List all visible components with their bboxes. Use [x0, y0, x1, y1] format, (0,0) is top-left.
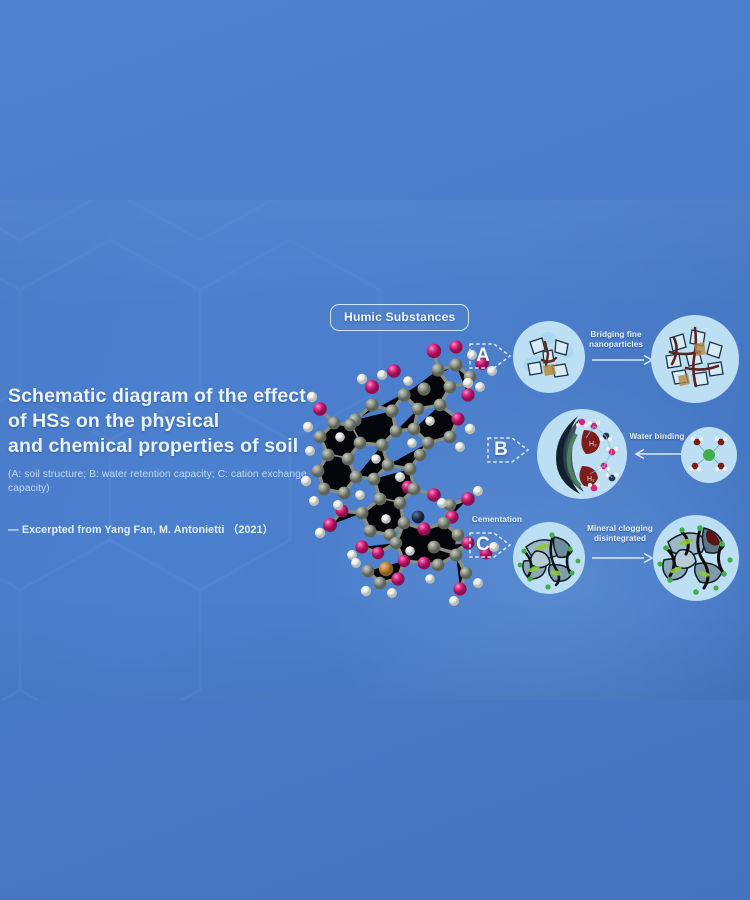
panel-c-secondary-line-1: Mineral clogging — [582, 524, 658, 534]
cation-sphere — [703, 449, 715, 461]
panel-c-primary-caption: Cementation — [466, 515, 528, 525]
panel-b-caption: Water binding — [628, 432, 686, 442]
panel-marker-a-label: A — [468, 334, 498, 378]
panel-c-caption-line-1: Cementation — [466, 515, 528, 525]
panel-a-arrow-right — [592, 352, 654, 368]
panel-marker-c-label: C — [468, 523, 498, 567]
panel-c-secondary-line-2: disintegrated — [582, 534, 658, 544]
svg-text:H₂: H₂ — [587, 476, 595, 483]
panel-marker-c: C — [468, 523, 512, 567]
panel-b-humic-water-shell-circle: H₂ H₂ — [536, 408, 628, 500]
page-title: Schematic diagram of the effect of HSs o… — [8, 384, 348, 459]
sulfur-atom — [379, 562, 393, 576]
panel-b-caption-line-1: Water binding — [628, 432, 686, 442]
panel-a-caption-line-2: nanoparticles — [580, 340, 652, 350]
panel-c-secondary-caption: Mineral clogging disintegrated — [582, 524, 658, 544]
panel-c-cemented-mineral-circle — [512, 521, 586, 595]
figure-caption-block: Schematic diagram of the effect of HSs o… — [8, 384, 348, 537]
panel-a-caption: Bridging fine nanoparticles — [580, 330, 652, 350]
svg-text:H₂: H₂ — [589, 441, 597, 448]
panel-marker-b: B — [486, 428, 530, 472]
panel-a-loose-soil-circle — [512, 320, 586, 394]
title-line-3: and chemical properties of soil — [8, 434, 348, 459]
panel-c-disintegrated-mineral-circle — [652, 514, 740, 602]
nitrogen-atom — [412, 511, 425, 524]
panel-a-bridged-soil-circle — [650, 314, 740, 404]
source-attribution: — Excerpted from Yang Fan, M. Antonietti… — [8, 522, 348, 537]
figure-canvas: Schematic diagram of the effect of HSs o… — [0, 0, 750, 900]
panel-c-arrow-right — [592, 550, 654, 566]
panel-key-subtitle: (A: soil structure; B: water retention c… — [8, 468, 348, 496]
title-line-1: Schematic diagram of the effect — [8, 384, 348, 409]
panel-b-hydrated-cation-circle — [680, 426, 738, 484]
panel-a-caption-line-1: Bridging fine — [580, 330, 652, 340]
panel-marker-b-label: B — [486, 428, 516, 472]
title-line-2: of HSs on the physical — [8, 409, 348, 434]
panel-marker-a: A — [468, 334, 512, 378]
panel-b-arrow-left — [630, 446, 682, 462]
